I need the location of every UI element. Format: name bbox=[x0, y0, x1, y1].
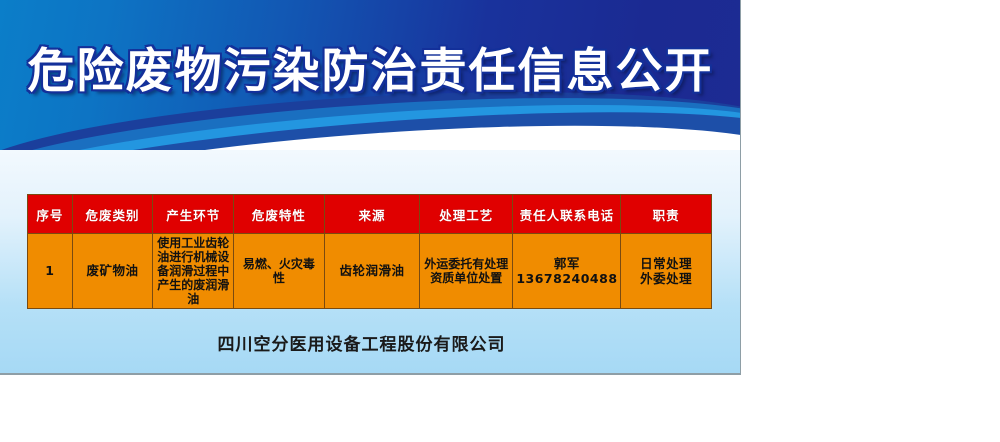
cell-source: 齿轮润滑油 bbox=[324, 234, 420, 309]
column-header-contact: 责任人联系电话 bbox=[513, 195, 621, 234]
table-body: 1 废矿物油 使用工业齿轮油进行机械设备润滑过程中产生的废润滑油 易燃、火灾毒性… bbox=[28, 234, 712, 309]
cell-duty: 日常处理 外委处理 bbox=[621, 234, 712, 309]
column-header-duty: 职责 bbox=[621, 195, 712, 234]
table-row: 1 废矿物油 使用工业齿轮油进行机械设备润滑过程中产生的废润滑油 易燃、火灾毒性… bbox=[28, 234, 712, 309]
cell-index: 1 bbox=[28, 234, 73, 309]
column-header-treatment: 处理工艺 bbox=[420, 195, 513, 234]
contact-name: 郭军 bbox=[516, 256, 617, 271]
table-header-row: 序号 危废类别 产生环节 危废特性 来源 处理工艺 责任人联系电话 职责 bbox=[28, 195, 712, 234]
poster-title: 危险废物污染防治责任信息公开 bbox=[0, 47, 741, 96]
cell-treatment-process: 外运委托有处理资质单位处置 bbox=[420, 234, 513, 309]
column-header-index: 序号 bbox=[28, 195, 73, 234]
column-header-category: 危废类别 bbox=[72, 195, 153, 234]
hazardous-waste-table: 序号 危废类别 产生环节 危废特性 来源 处理工艺 责任人联系电话 职责 1 废… bbox=[27, 194, 712, 309]
cell-category: 废矿物油 bbox=[72, 234, 153, 309]
cell-contact: 郭军 13678240488 bbox=[513, 234, 621, 309]
duty-line-1: 日常处理 bbox=[624, 256, 708, 271]
column-header-generation-stage: 产生环节 bbox=[153, 195, 234, 234]
contact-phone: 13678240488 bbox=[516, 271, 617, 286]
column-header-characteristics: 危废特性 bbox=[234, 195, 325, 234]
table-header: 序号 危废类别 产生环节 危废特性 来源 处理工艺 责任人联系电话 职责 bbox=[28, 195, 712, 234]
information-disclosure-poster: 危险废物污染防治责任信息公开 序号 危废类别 产生环节 危废特性 来源 处理工艺… bbox=[0, 0, 741, 375]
cell-generation-stage: 使用工业齿轮油进行机械设备润滑过程中产生的废润滑油 bbox=[153, 234, 234, 309]
cell-characteristics: 易燃、火灾毒性 bbox=[234, 234, 325, 309]
company-name: 四川空分医用设备工程股份有限公司 bbox=[0, 330, 741, 355]
hazardous-waste-table-wrapper: 序号 危废类别 产生环节 危废特性 来源 处理工艺 责任人联系电话 职责 1 废… bbox=[27, 194, 712, 309]
duty-line-2: 外委处理 bbox=[624, 271, 708, 286]
poster-header-band: 危险废物污染防治责任信息公开 bbox=[0, 0, 741, 150]
column-header-source: 来源 bbox=[324, 195, 420, 234]
